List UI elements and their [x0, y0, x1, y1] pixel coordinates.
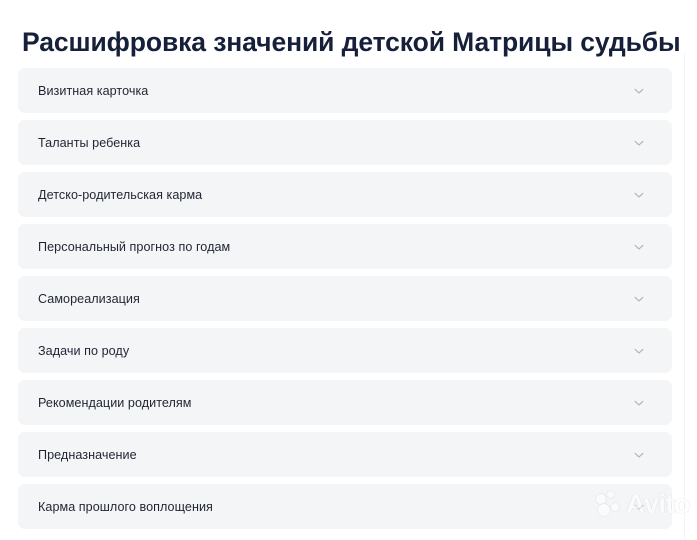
- chevron-down-icon[interactable]: [632, 344, 646, 358]
- accordion-item-zadachi-po-rodu[interactable]: Задачи по роду: [18, 328, 672, 373]
- accordion-item-samorealizatsiya[interactable]: Самореализация: [18, 276, 672, 321]
- accordion-item-label: Предназначение: [38, 447, 632, 463]
- accordion-item-personalnyy-prognoz-po-godam[interactable]: Персональный прогноз по годам: [18, 224, 672, 269]
- accordion-item-label: Рекомендации родителям: [38, 395, 632, 411]
- accordion-item-prednaznachenie[interactable]: Предназначение: [18, 432, 672, 477]
- accordion-item-label: Детско-родительская карма: [38, 187, 632, 203]
- accordion-item-karma-proshlogo-voploshcheniya[interactable]: Карма прошлого воплощения: [18, 484, 672, 529]
- chevron-down-icon[interactable]: [632, 136, 646, 150]
- accordion-item-label: Персональный прогноз по годам: [38, 239, 632, 255]
- accordion-item-vizitnaya-kartochka[interactable]: Визитная карточка: [18, 68, 672, 113]
- chevron-down-icon[interactable]: [632, 500, 646, 514]
- accordion-list: Визитная карточка Таланты ребенка Детско…: [18, 68, 672, 536]
- chevron-down-icon[interactable]: [632, 84, 646, 98]
- chevron-down-icon[interactable]: [632, 448, 646, 462]
- chevron-down-icon[interactable]: [632, 240, 646, 254]
- accordion-item-label: Задачи по роду: [38, 343, 632, 359]
- accordion-item-label: Самореализация: [38, 291, 632, 307]
- chevron-down-icon[interactable]: [632, 396, 646, 410]
- chevron-down-icon[interactable]: [632, 188, 646, 202]
- accordion-item-label: Карма прошлого воплощения: [38, 499, 632, 515]
- page-container-edge: [684, 52, 685, 540]
- page-title: Расшифровка значений детской Матрицы суд…: [22, 25, 697, 59]
- accordion-item-label: Визитная карточка: [38, 83, 632, 99]
- accordion-item-rekomendatsii-roditelyam[interactable]: Рекомендации родителям: [18, 380, 672, 425]
- accordion-item-detsko-roditelskaya-karma[interactable]: Детско-родительская карма: [18, 172, 672, 217]
- accordion-item-label: Таланты ребенка: [38, 135, 632, 151]
- accordion-item-talanty-rebenka[interactable]: Таланты ребенка: [18, 120, 672, 165]
- chevron-down-icon[interactable]: [632, 292, 646, 306]
